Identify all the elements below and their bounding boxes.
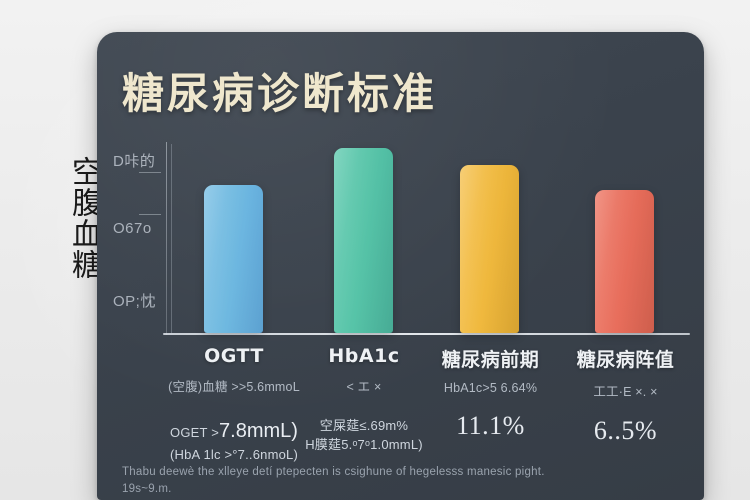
bar-value-prediabetes: 11.1% — [417, 411, 564, 441]
y-tick-dash-top — [139, 172, 161, 173]
bar-sublabel-threshold: 工工·E ×. × — [552, 381, 699, 400]
bar-detail-prefix-ogtt: OGET > — [170, 425, 219, 440]
bar-label-threshold: 糖尿病阵值 — [552, 345, 699, 372]
y-tick-label-bottom: OP;忱 — [113, 290, 167, 311]
vertical-axis-title: 空腹血糖 — [44, 136, 100, 300]
bar-prediabetes[interactable] — [460, 165, 519, 333]
footnote-line-2: 19s~9.m. — [122, 481, 662, 498]
bar-hba1c[interactable] — [334, 148, 393, 333]
bar-value-threshold: 6..5% — [552, 416, 699, 446]
chart-card: 糖尿病诊断标准 D咔的 O67o OP;忱 OGTT (空腹)血糖 >>5.6m… — [97, 32, 704, 500]
chart-plot-area: D咔的 O67o OP;忱 OGTT (空腹)血糖 >>5.6mmoL OGET… — [97, 32, 704, 500]
y-tick-label-top: D咔的 — [113, 150, 167, 171]
bar-ogtt[interactable] — [204, 185, 263, 333]
bar-label-group-threshold: 糖尿病阵值 工工·E ×. × 6..5% — [552, 345, 699, 446]
bar-label-group-prediabetes: 糖尿病前期 HbA1c>5 6.64% 11.1% — [417, 345, 564, 441]
x-axis-baseline — [163, 333, 690, 335]
y-tick-dash-mid — [139, 214, 161, 215]
bar-sublabel-prediabetes: HbA1c>5 6.64% — [417, 381, 564, 395]
footnote-line-1: Thabu deewè the xlleye detí ptepecten is… — [122, 464, 662, 481]
bar-label-prediabetes: 糖尿病前期 — [417, 345, 564, 372]
y-tick-label-mid: O67o — [113, 220, 167, 237]
footnote: Thabu deewè the xlleye detí ptepecten is… — [122, 464, 662, 499]
bar-diabetes-threshold[interactable] — [595, 190, 654, 333]
y-axis-line-secondary — [171, 144, 172, 333]
